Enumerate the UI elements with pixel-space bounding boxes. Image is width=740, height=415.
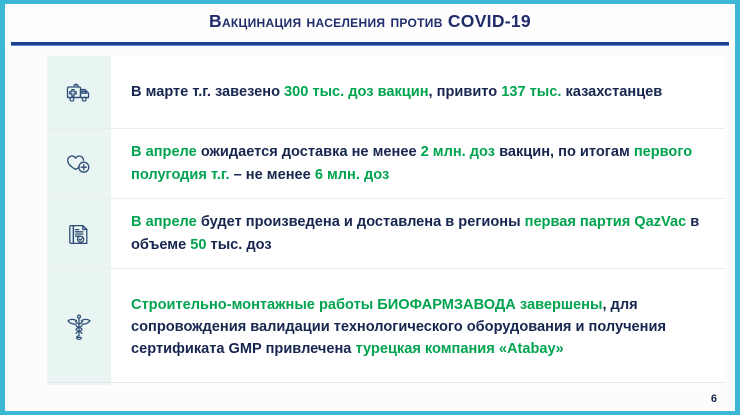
frame-border-bottom [0, 411, 740, 415]
slide-header: Вакцинация населения против COVID-19 [5, 4, 735, 47]
row-icon-cell [47, 56, 111, 128]
ambulance-icon [63, 76, 95, 108]
page-number: 6 [711, 393, 717, 405]
row-icon-cell [47, 199, 111, 268]
slide: Вакцинация населения против COVID-19 [0, 0, 740, 415]
caduceus-icon [63, 311, 95, 343]
row-icon-cell [47, 269, 111, 385]
list-item-text: В марте т.г. завезено 300 тыс. доз вакци… [111, 81, 725, 103]
list-item-text: В апреле ожидается доставка не менее 2 м… [111, 141, 725, 185]
row-icon-cell [47, 129, 111, 198]
list-item: В марте т.г. завезено 300 тыс. доз вакци… [47, 56, 725, 129]
header-divider-accent [11, 45, 729, 46]
list-item-text: Строительно-монтажные работы БИОФАРМЗАВО… [111, 294, 725, 361]
heart-plus-icon [63, 148, 95, 180]
certificate-document-icon [63, 218, 95, 250]
list-item: В апреле ожидается доставка не менее 2 м… [47, 129, 725, 199]
slide-inner: Вакцинация населения против COVID-19 [5, 4, 735, 411]
content-rows: В марте т.г. завезено 300 тыс. доз вакци… [47, 56, 725, 385]
footer-divider [47, 382, 725, 383]
frame-border-right [735, 0, 740, 415]
page-title: Вакцинация населения против COVID-19 [5, 11, 735, 32]
list-item: В апреле будет произведена и доставлена … [47, 199, 725, 269]
list-item-text: В апреле будет произведена и доставлена … [111, 211, 725, 255]
list-item: Строительно-монтажные работы БИОФАРМЗАВО… [47, 269, 725, 385]
